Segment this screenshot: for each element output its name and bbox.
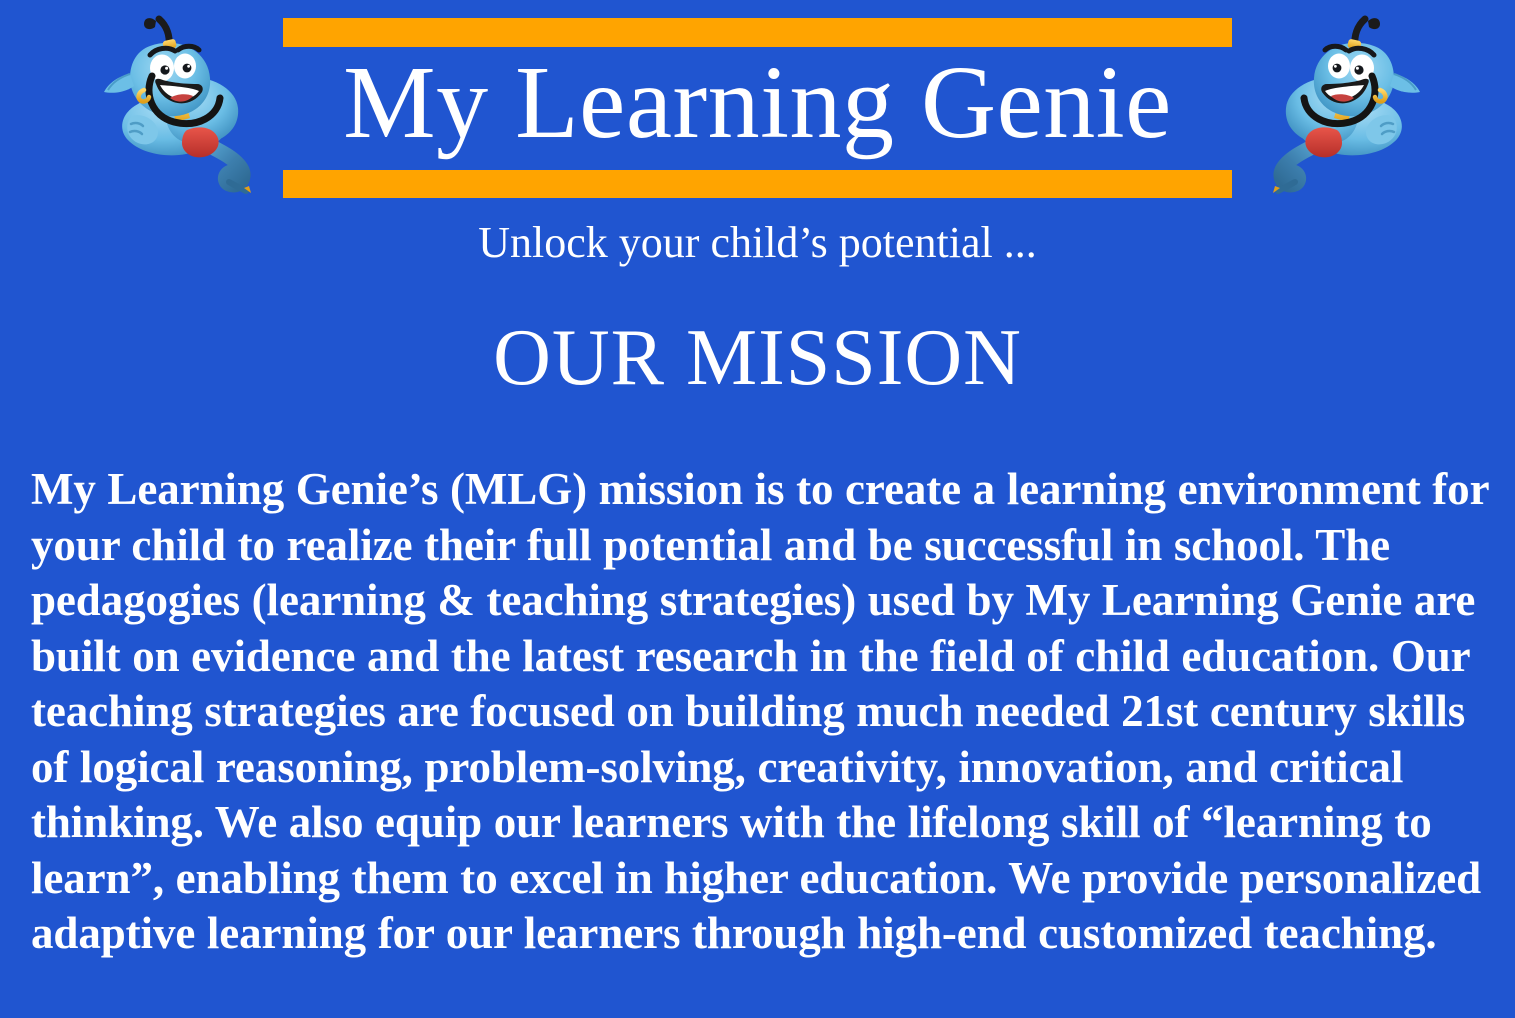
- page-title: My Learning Genie: [283, 39, 1232, 167]
- header-band: My Learning Genie: [0, 0, 1515, 210]
- orange-rule-bottom: [283, 170, 1232, 198]
- mission-slide: My Learning Genie: [0, 0, 1515, 1018]
- mission-body-text: My Learning Genie’s (MLG) mission is to …: [31, 462, 1496, 962]
- genie-mascot-icon: [86, 12, 276, 202]
- tagline: Unlock your child’s potential ...: [0, 214, 1515, 272]
- section-heading: OUR MISSION: [0, 310, 1515, 406]
- genie-mascot-icon: [1248, 12, 1438, 202]
